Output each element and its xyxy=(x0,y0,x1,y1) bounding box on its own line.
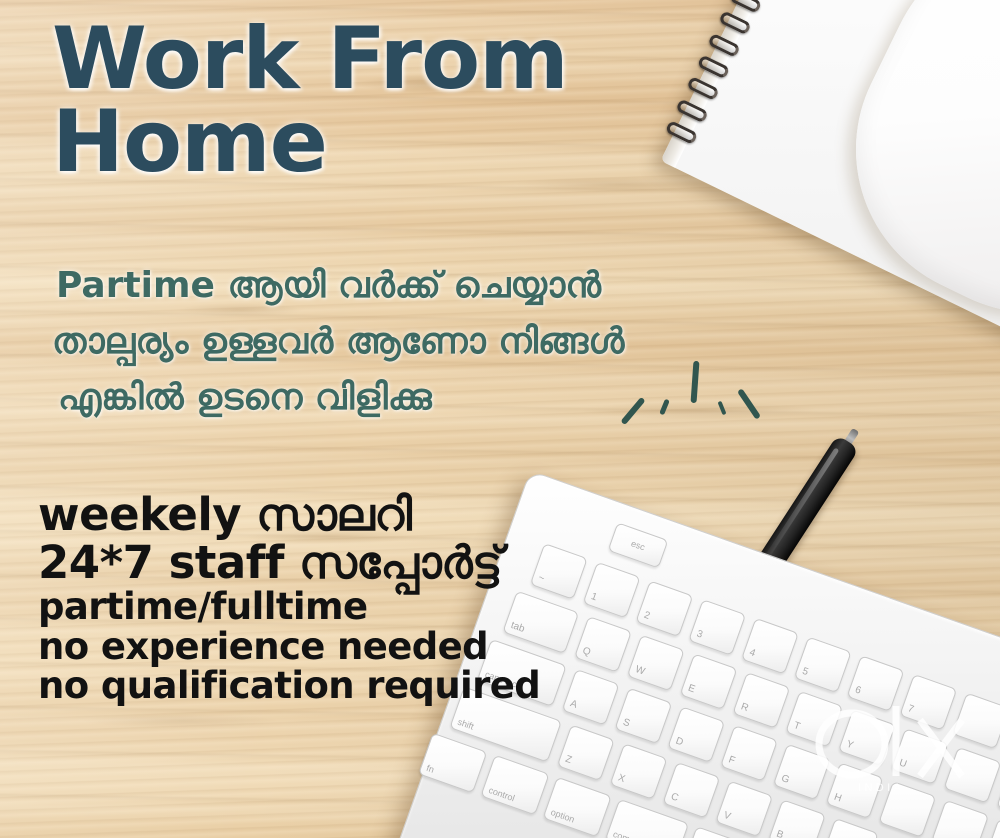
burst-dash xyxy=(718,401,727,415)
spiral-ring xyxy=(729,0,763,14)
key-7: 7 xyxy=(899,674,957,731)
offer-item-schedule: partime/fulltime xyxy=(38,588,598,626)
burst-dash xyxy=(691,361,700,403)
key-5: 5 xyxy=(794,636,852,693)
key-y: Y xyxy=(838,709,896,766)
offer-item-salary: weekely സാലറി xyxy=(38,492,598,538)
burst-dash xyxy=(737,388,761,420)
offer-item-experience: no experience needed xyxy=(38,628,598,666)
burst-dash xyxy=(659,399,670,416)
key-6: 6 xyxy=(846,655,904,712)
key-t: T xyxy=(785,691,843,748)
key-option: option xyxy=(543,777,612,838)
key-c: C xyxy=(662,762,720,819)
key-i xyxy=(943,747,1000,804)
key-b: B xyxy=(768,799,826,838)
key-e: E xyxy=(680,653,738,710)
key-k xyxy=(931,800,989,838)
burst-accent-icon xyxy=(622,355,772,427)
key-4: 4 xyxy=(741,618,799,675)
key-3: 3 xyxy=(688,599,746,656)
malayalam-line-1: Partime ആയി വർക്ക് ചെയ്യാൻ xyxy=(52,258,772,314)
spiral-ring xyxy=(697,54,731,79)
key-v: V xyxy=(715,781,773,838)
key-s: S xyxy=(614,688,672,745)
offer-item-support: 24*7 staff സപ്പോർട്ട് xyxy=(38,540,598,586)
headline-line-2: Home xyxy=(52,101,692,184)
key-2: 2 xyxy=(635,580,693,637)
key-z: Z xyxy=(557,724,615,781)
key-control: control xyxy=(480,755,549,816)
key-8 xyxy=(952,693,1000,750)
key-g: G xyxy=(773,744,831,801)
spiral-ring xyxy=(707,32,741,57)
key-j xyxy=(878,781,936,838)
key-n xyxy=(821,818,879,838)
page-title: Work From Home xyxy=(52,18,692,183)
offer-item-qualification: no qualification required xyxy=(38,667,598,705)
poster-canvas: esc ~ 1 2 3 4 5 6 7 tab Q W E R T Y U ca… xyxy=(0,0,1000,838)
burst-dash xyxy=(620,397,645,425)
key-w: W xyxy=(627,635,685,692)
key-d: D xyxy=(667,706,725,763)
key-x: X xyxy=(610,743,668,800)
key-h: H xyxy=(826,762,884,819)
key-f: F xyxy=(720,725,778,782)
key-r: R xyxy=(732,672,790,729)
spiral-ring xyxy=(718,11,752,36)
key-u: U xyxy=(891,728,949,785)
offer-list: weekely സാലറി 24*7 staff സപ്പോർട്ട് part… xyxy=(38,492,598,705)
